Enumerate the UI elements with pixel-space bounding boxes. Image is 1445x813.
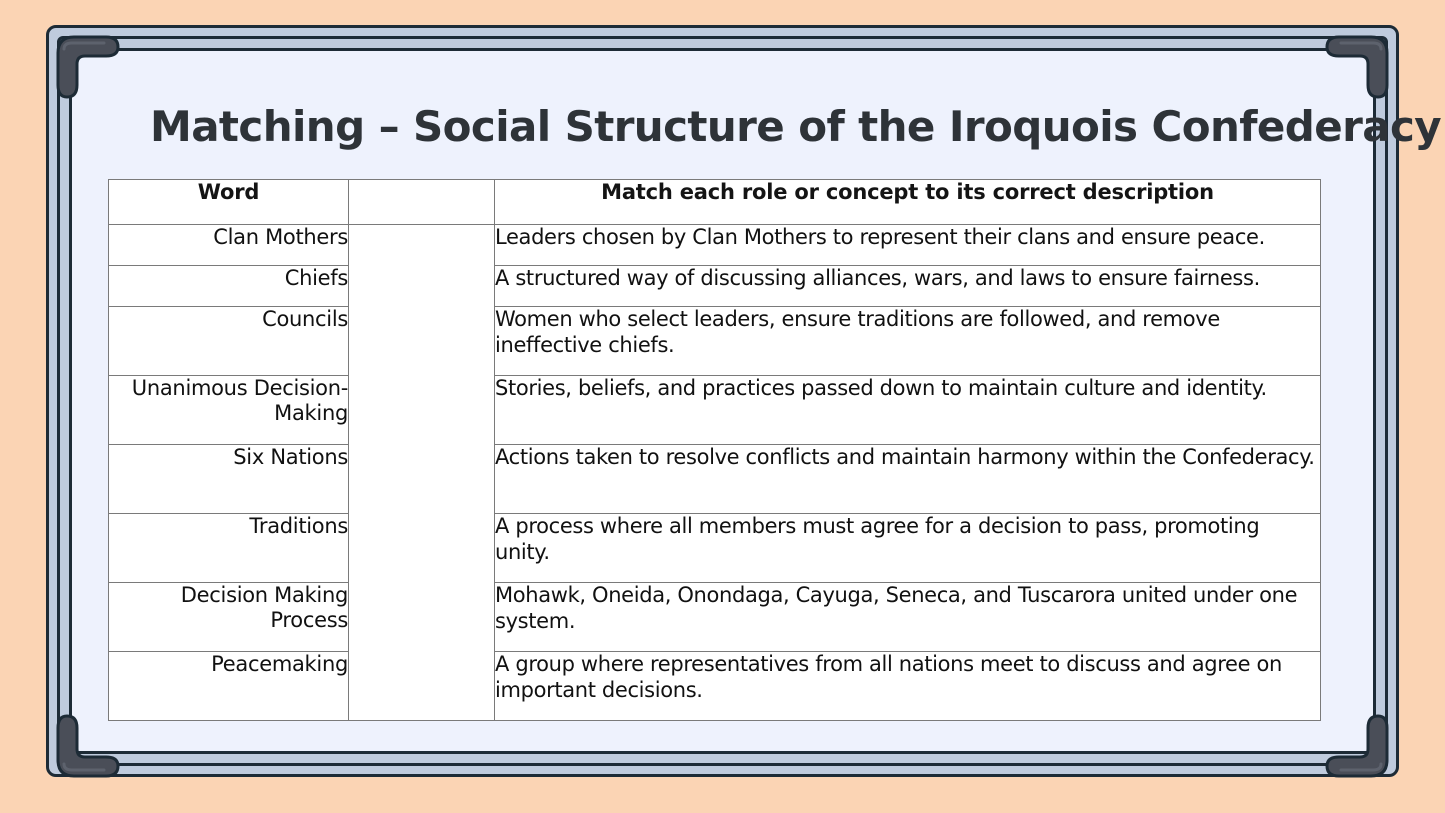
matching-table-wrapper: Word Match each role or concept to its c… [108,179,1320,721]
title-row: Matching – Social Structure of the Iroqu… [150,92,1350,162]
word-cell: Traditions [109,514,349,583]
word-cell: Clan Mothers [109,225,349,266]
table-row: Peacemaking A group where representative… [109,652,1321,721]
table-row: Chiefs A structured way of discussing al… [109,266,1321,307]
word-cell: Six Nations [109,445,349,514]
description-cell: Stories, beliefs, and practices passed d… [495,376,1321,445]
word-cell: Chiefs [109,266,349,307]
description-cell: Actions taken to resolve conflicts and m… [495,445,1321,514]
table-row: Six Nations Actions taken to resolve con… [109,445,1321,514]
description-cell: A process where all members must agree f… [495,514,1321,583]
table-row: Traditions A process where all members m… [109,514,1321,583]
corner-bracket-bottom-right [1323,712,1401,790]
description-cell: Mohawk, Oneida, Onondaga, Cayuga, Seneca… [495,583,1321,652]
description-cell: Women who select leaders, ensure traditi… [495,307,1321,376]
worksheet-slide: Matching – Social Structure of the Iroqu… [0,0,1445,813]
corner-bracket-bottom-left [44,712,122,790]
description-cell: Leaders chosen by Clan Mothers to repres… [495,225,1321,266]
word-cell: Councils [109,307,349,376]
matching-table: Word Match each role or concept to its c… [108,179,1321,721]
answer-blank-column[interactable] [349,225,495,721]
word-cell: Decision Making Process [109,583,349,652]
table-header-row: Word Match each role or concept to its c… [109,180,1321,225]
corner-bracket-top-right [1323,23,1401,101]
table-row: Councils Women who select leaders, ensur… [109,307,1321,376]
description-cell: A group where representatives from all n… [495,652,1321,721]
table-row: Clan Mothers Leaders chosen by Clan Moth… [109,225,1321,266]
page-title: Matching – Social Structure of the Iroqu… [150,106,1441,148]
description-cell: A structured way of discussing alliances… [495,266,1321,307]
column-header-description: Match each role or concept to its correc… [495,180,1321,225]
table-row: Unanimous Decision-Making Stories, belie… [109,376,1321,445]
corner-bracket-top-left [44,23,122,101]
column-header-answer [349,180,495,225]
word-cell: Unanimous Decision-Making [109,376,349,445]
table-row: Decision Making Process Mohawk, Oneida, … [109,583,1321,652]
column-header-word: Word [109,180,349,225]
word-cell: Peacemaking [109,652,349,721]
